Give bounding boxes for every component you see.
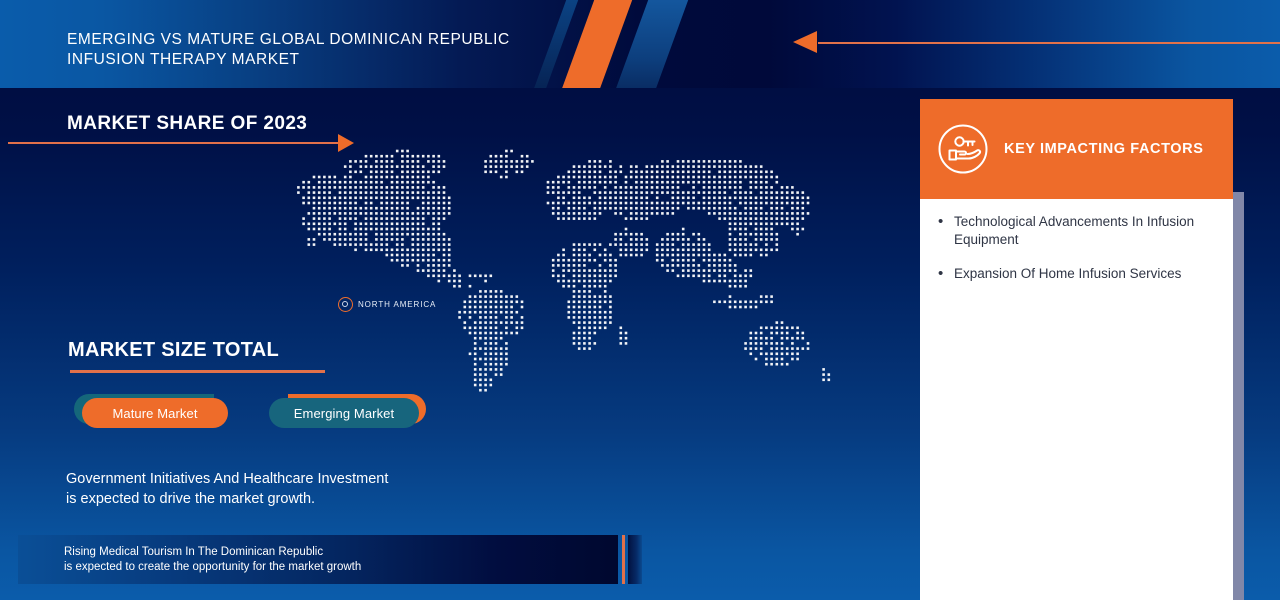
market-driver-line-2: is expected to drive the market growth. — [66, 489, 536, 509]
world-map — [285, 148, 895, 398]
market-share-title: Market Share of 2023 — [67, 113, 307, 135]
infographic-root: Emerging Vs Mature Global Dominican Repu… — [0, 0, 1280, 600]
market-driver-line-1: Government Initiatives And Healthcare In… — [66, 469, 536, 489]
opportunity-banner-accent — [622, 535, 625, 584]
opportunity-line-1: Rising Medical Tourism In The Dominican … — [64, 545, 484, 560]
opportunity-banner-tail — [628, 535, 642, 584]
list-item-label: Expansion Of Home Infusion Services — [954, 265, 1181, 283]
header-arrow-line — [818, 42, 1280, 44]
page-title: Emerging Vs Mature Global Dominican Repu… — [67, 30, 587, 70]
market-driver-text: Government Initiatives And Healthcare In… — [66, 469, 536, 509]
list-item: • Technological Advancements In Infusion… — [920, 213, 1233, 248]
opportunity-line-2: is expected to create the opportunity fo… — [64, 560, 484, 575]
list-item: • Expansion Of Home Infusion Services — [920, 265, 1233, 283]
page-header: Emerging Vs Mature Global Dominican Repu… — [0, 0, 1280, 88]
emerging-market-pill[interactable]: Emerging Market — [269, 398, 419, 428]
key-factors-title: Key Impacting Factors — [1004, 141, 1204, 157]
bullet-icon: • — [938, 213, 954, 248]
hand-holding-key-icon — [937, 123, 989, 175]
key-factors-header: Key Impacting Factors — [920, 99, 1233, 199]
map-region-label: North America — [358, 300, 436, 309]
opportunity-text: Rising Medical Tourism In The Dominican … — [64, 545, 484, 575]
market-share-rule — [8, 142, 340, 144]
market-size-rule — [70, 370, 325, 373]
mature-market-pill[interactable]: Mature Market — [82, 398, 228, 428]
bullet-icon: • — [938, 265, 954, 283]
key-factors-panel-shadow — [1233, 192, 1244, 600]
key-factors-list: • Technological Advancements In Infusion… — [920, 213, 1233, 300]
list-item-label: Technological Advancements In Infusion E… — [954, 213, 1215, 248]
location-ring-icon — [338, 297, 353, 312]
left-arrow-icon — [793, 31, 817, 53]
market-size-title: Market Size Total — [68, 339, 279, 362]
